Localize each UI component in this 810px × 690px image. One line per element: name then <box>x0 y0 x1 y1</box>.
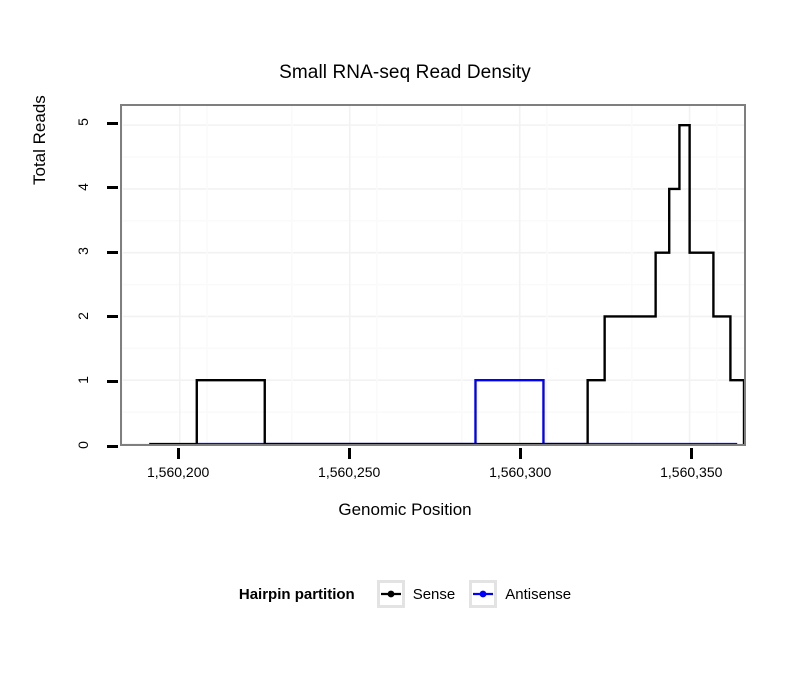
y-tick-label: 1 <box>75 365 91 395</box>
legend-entry-antisense[interactable]: Antisense <box>469 580 571 608</box>
chart-legend: Hairpin partition Sense Antisense <box>0 580 810 608</box>
legend-label-antisense: Antisense <box>505 586 571 603</box>
y-tick-label: 2 <box>75 301 91 331</box>
x-tick-mark <box>519 448 522 459</box>
y-tick-mark <box>107 251 118 254</box>
x-tick-mark <box>177 448 180 459</box>
legend-title: Hairpin partition <box>239 586 355 603</box>
y-tick-label: 0 <box>75 430 91 460</box>
plot-area <box>122 106 744 444</box>
y-tick-label: 3 <box>75 236 91 266</box>
x-tick-label: 1,560,300 <box>460 464 580 480</box>
y-tick-mark <box>107 122 118 125</box>
chart-canvas: Small RNA-seq Read Density Total Reads G… <box>0 0 810 690</box>
y-tick-mark <box>107 445 118 448</box>
line-point-icon-sense <box>377 580 405 608</box>
y-tick-label: 5 <box>75 107 91 137</box>
x-tick-mark <box>348 448 351 459</box>
legend-entry-sense[interactable]: Sense <box>377 580 456 608</box>
x-tick-label: 1,560,200 <box>118 464 238 480</box>
y-tick-mark <box>107 380 118 383</box>
x-tick-label: 1,560,350 <box>631 464 751 480</box>
x-tick-label: 1,560,250 <box>289 464 409 480</box>
y-tick-mark <box>107 186 118 189</box>
plot-panel <box>120 104 746 446</box>
line-point-icon-antisense <box>469 580 497 608</box>
legend-key-glyph <box>473 588 493 600</box>
legend-label-sense: Sense <box>413 586 456 603</box>
y-axis-label: Total Reads <box>30 95 50 185</box>
y-tick-mark <box>107 315 118 318</box>
legend-key-glyph <box>381 588 401 600</box>
x-tick-mark <box>690 448 693 459</box>
y-tick-label: 4 <box>75 172 91 202</box>
x-axis-label: Genomic Position <box>0 500 810 520</box>
chart-title: Small RNA-seq Read Density <box>0 62 810 84</box>
